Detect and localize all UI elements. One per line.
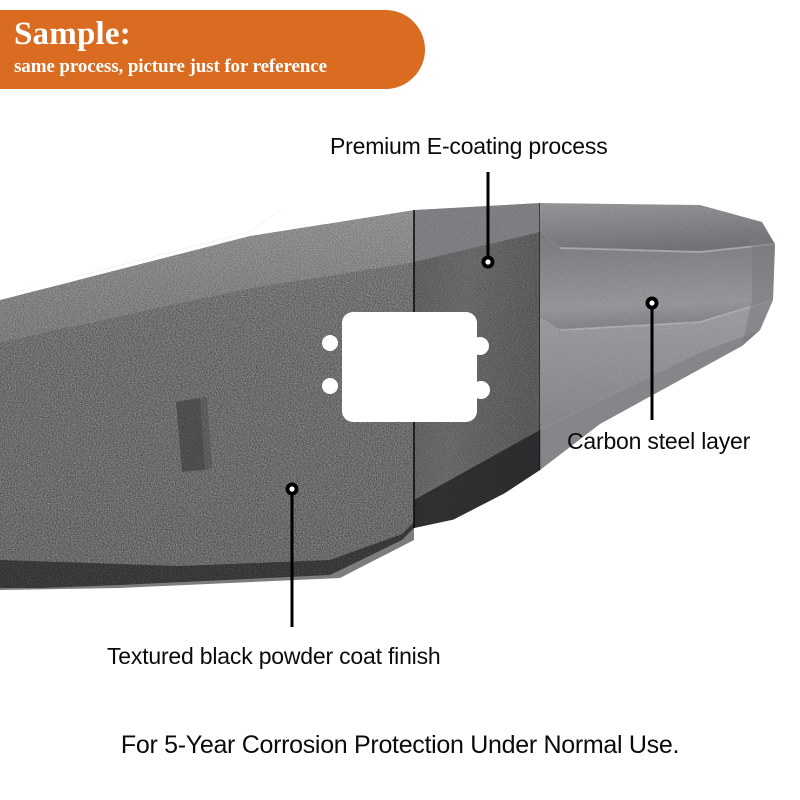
callout-label-powder-coat: Textured black powder coat finish [107, 643, 440, 670]
bolt-hole [471, 337, 489, 355]
bolt-hole [472, 381, 490, 399]
bolt-hole [322, 378, 338, 394]
product-feature-image: Sample: same process, picture just for r… [0, 0, 800, 800]
bolt-hole [322, 335, 338, 351]
sample-banner-title: Sample: [14, 14, 425, 54]
callout-label-carbon-steel: Carbon steel layer [567, 428, 750, 455]
sample-banner: Sample: same process, picture just for r… [0, 10, 425, 89]
bumper-receiver-cutout [322, 312, 490, 422]
bumper-illustration [0, 0, 800, 800]
sample-banner-subtitle: same process, picture just for reference [14, 54, 425, 80]
footer-caption: For 5-Year Corrosion Protection Under No… [0, 731, 800, 760]
callout-label-ecoating: Premium E-coating process [330, 133, 608, 160]
